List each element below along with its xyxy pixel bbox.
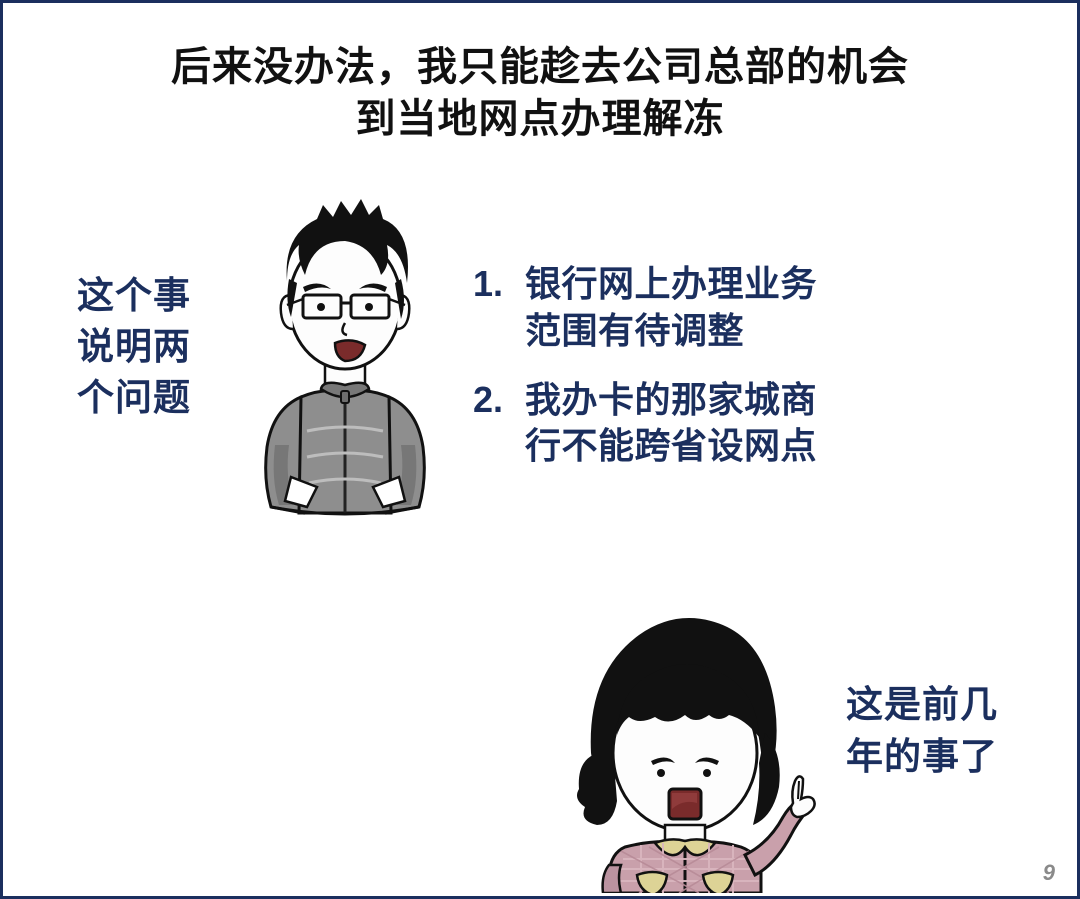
list-item-text: 我办卡的那家城商 行不能跨省设网点 — [525, 377, 817, 471]
right-speech-caption: 这是前几 年的事了 — [846, 679, 1046, 783]
list-item-number: 2. — [473, 377, 525, 424]
woman-illustration — [569, 603, 831, 893]
page-title: 后来没办法，我只能趁去公司总部的机会 到当地网点办理解冻 — [3, 41, 1077, 145]
page-number: 9 — [1043, 860, 1055, 886]
left-speech-caption: 这个事 说明两 个问题 — [77, 270, 247, 423]
slide-canvas: 后来没办法，我只能趁去公司总部的机会 到当地网点办理解冻 这个事 说明两 个问题 — [0, 0, 1080, 899]
points-list: 1. 银行网上办理业务 范围有待调整 2. 我办卡的那家城商 行不能跨省设网点 — [473, 261, 923, 492]
list-item-number: 1. — [473, 261, 525, 308]
man-illustration — [241, 191, 449, 521]
list-item: 2. 我办卡的那家城商 行不能跨省设网点 — [473, 377, 923, 471]
list-item-text: 银行网上办理业务 范围有待调整 — [525, 261, 817, 355]
list-item: 1. 银行网上办理业务 范围有待调整 — [473, 261, 923, 355]
